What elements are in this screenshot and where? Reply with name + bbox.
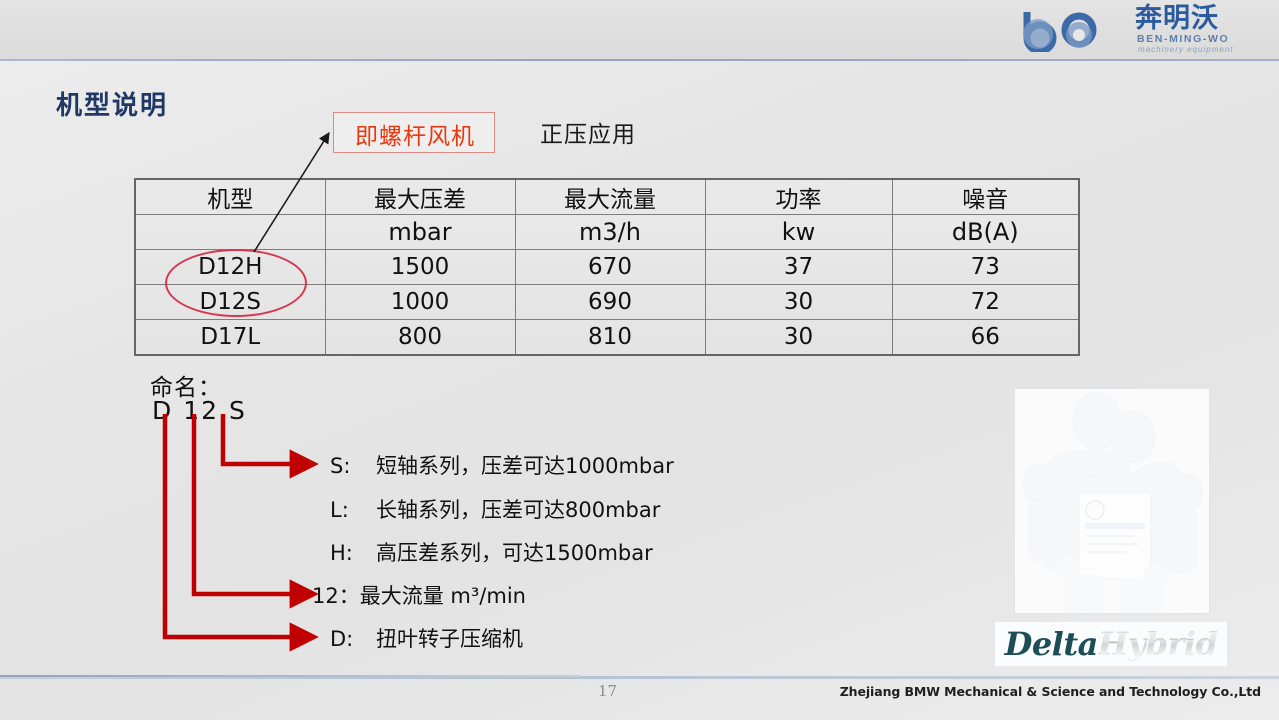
table-cell: m3/h bbox=[515, 215, 705, 250]
spec-table: 机型最大压差最大流量功率噪音mbarm3/hkwdB(A)D12H1500670… bbox=[134, 178, 1080, 356]
table-cell: 37 bbox=[705, 250, 892, 285]
table-cell: 最大压差 bbox=[325, 179, 515, 215]
company-footer-text: Zhejiang BMW Mechanical & Science and Te… bbox=[840, 684, 1261, 699]
table-row: D12H15006703773 bbox=[135, 250, 1079, 285]
table-cell: 功率 bbox=[705, 179, 892, 215]
naming-legend-desc: 长轴系列，压差可达800mbar bbox=[376, 498, 660, 522]
naming-legend-item: D:扭叶转子压缩机 bbox=[330, 623, 523, 653]
table-cell: dB(A) bbox=[892, 215, 1079, 250]
logo-english-name: BEN-MING-WO bbox=[1137, 33, 1229, 45]
logo-chinese-name: 奔明沃 bbox=[1135, 4, 1219, 34]
delta-word: Delta bbox=[1005, 625, 1098, 663]
page-number: 17 bbox=[598, 682, 617, 700]
naming-legend-key: D: bbox=[330, 627, 376, 651]
naming-legend-key: L: bbox=[330, 498, 376, 522]
table-cell: 1000 bbox=[325, 285, 515, 320]
company-logo: 奔明沃 BEN-MING-WO machinery equipment bbox=[1017, 4, 1267, 56]
table-cell: 800 bbox=[325, 320, 515, 356]
table-row: 机型最大压差最大流量功率噪音 bbox=[135, 179, 1079, 215]
table-cell: 73 bbox=[892, 250, 1079, 285]
table-cell: 810 bbox=[515, 320, 705, 356]
table-cell: 1500 bbox=[325, 250, 515, 285]
two-robots-holding-certificate-photo bbox=[1014, 388, 1210, 614]
table-cell: 690 bbox=[515, 285, 705, 320]
naming-legend-desc: 短轴系列，压差可达1000mbar bbox=[376, 454, 674, 478]
table-cell: D12H bbox=[135, 250, 325, 285]
naming-legend-key: S: bbox=[330, 454, 376, 478]
bo-monogram-icon bbox=[1017, 8, 1135, 52]
table-cell: 机型 bbox=[135, 179, 325, 215]
table-cell: mbar bbox=[325, 215, 515, 250]
naming-legend-key: H: bbox=[330, 541, 376, 565]
table-cell: 72 bbox=[892, 285, 1079, 320]
naming-legend-desc: 最大流量 m³/min bbox=[360, 584, 526, 608]
table-cell: D17L bbox=[135, 320, 325, 356]
naming-legend-key: 12： bbox=[312, 580, 360, 610]
delta-hybrid-logo: Delta Hybrid bbox=[995, 622, 1227, 666]
naming-connector-12 bbox=[194, 414, 313, 594]
positive-pressure-label: 正压应用 bbox=[540, 115, 636, 149]
table-cell bbox=[135, 215, 325, 250]
table-cell: 66 bbox=[892, 320, 1079, 356]
table-cell: 30 bbox=[705, 285, 892, 320]
table-row: D17L8008103066 bbox=[135, 320, 1079, 356]
naming-legend-item: S:短轴系列，压差可达1000mbar bbox=[330, 450, 674, 480]
table-cell: 30 bbox=[705, 320, 892, 356]
callout-label: 即螺杆风机 bbox=[334, 113, 496, 154]
table-row: mbarm3/hkwdB(A) bbox=[135, 215, 1079, 250]
page-title: 机型说明 bbox=[56, 85, 168, 122]
slide-canvas: 奔明沃 BEN-MING-WO machinery equipment 机型说明… bbox=[0, 0, 1279, 720]
naming-legend-item: L:长轴系列，压差可达800mbar bbox=[330, 494, 660, 524]
table-cell: 670 bbox=[515, 250, 705, 285]
table-cell: 噪音 bbox=[892, 179, 1079, 215]
hybrid-word: Hybrid bbox=[1098, 625, 1218, 663]
footer-divider-accent bbox=[0, 675, 580, 677]
table-cell: 最大流量 bbox=[515, 179, 705, 215]
logo-tagline: machinery equipment bbox=[1138, 45, 1233, 55]
table-row: D12S10006903072 bbox=[135, 285, 1079, 320]
header-divider bbox=[0, 59, 1279, 61]
naming-connector-d bbox=[165, 414, 313, 637]
table-cell: D12S bbox=[135, 285, 325, 320]
table-cell: kw bbox=[705, 215, 892, 250]
naming-legend-desc: 高压差系列，可达1500mbar bbox=[376, 541, 653, 565]
naming-legend-item: H:高压差系列，可达1500mbar bbox=[330, 537, 653, 567]
naming-legend-item: 12：最大流量 m³/min bbox=[312, 580, 526, 610]
callout-box: 即螺杆风机 bbox=[333, 112, 495, 153]
naming-legend-desc: 扭叶转子压缩机 bbox=[376, 627, 523, 651]
naming-code-sample: D 12 S bbox=[152, 396, 247, 425]
